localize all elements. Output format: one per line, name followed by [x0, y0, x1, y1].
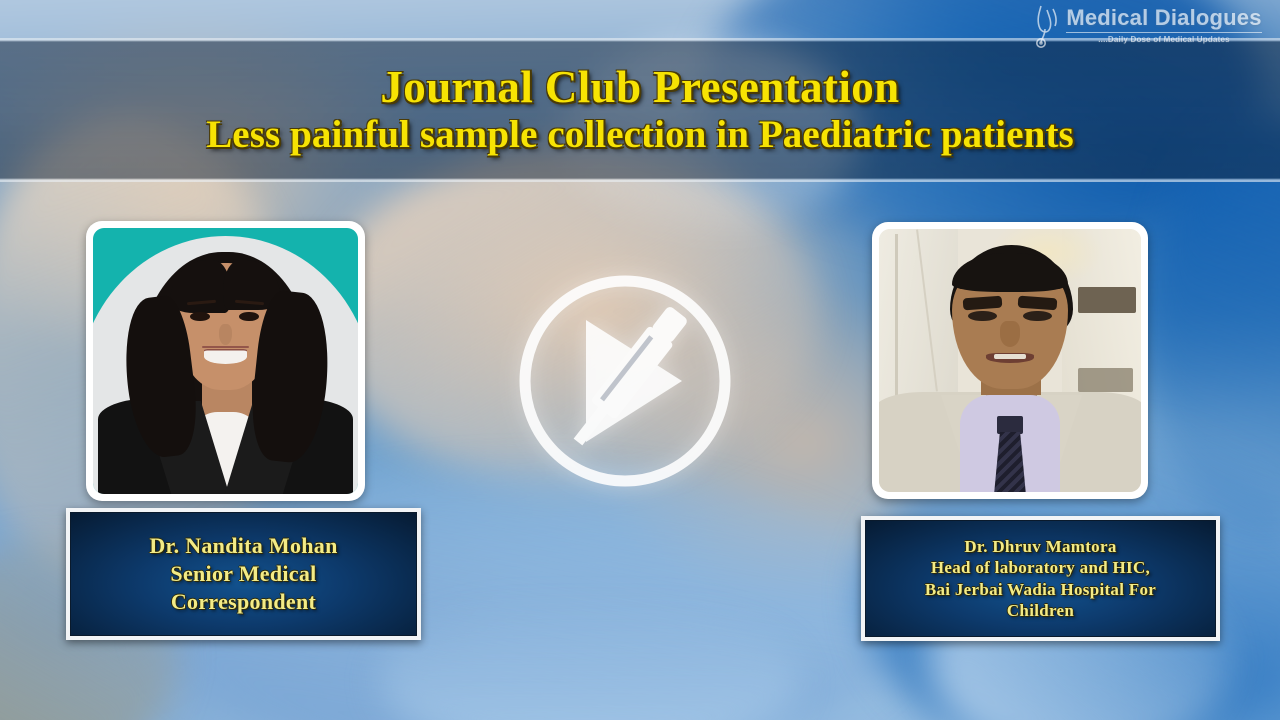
speaker-photo-frame-left — [86, 221, 365, 501]
avatar — [93, 228, 358, 494]
stethoscope-icon — [1032, 2, 1066, 48]
speaker-title-line-2: Bai Jerbai Wadia Hospital For — [925, 579, 1156, 600]
speaker-title-line-3: Children — [1007, 600, 1074, 621]
speaker-title-line-1: Senior Medical — [170, 560, 316, 588]
speaker-nameplate-left: Dr. Nandita Mohan Senior Medical Corresp… — [66, 508, 421, 640]
brand-logo: Medical Dialogues ....Daily Dose of Medi… — [1032, 2, 1272, 50]
page-subtitle: Less painful sample collection in Paedia… — [206, 114, 1074, 155]
speaker-name: Dr. Nandita Mohan — [149, 532, 337, 560]
avatar — [879, 229, 1141, 492]
speaker-title-line-1: Head of laboratory and HIC, — [931, 557, 1150, 578]
title-banner: Journal Club Presentation Less painful s… — [0, 38, 1280, 182]
video-frame: Journal Club Presentation Less painful s… — [0, 0, 1280, 720]
speaker-photo-frame-right — [872, 222, 1148, 499]
brand-name: Medical Dialogues — [1066, 5, 1261, 31]
speaker-name: Dr. Dhruv Mamtora — [964, 536, 1116, 557]
play-syringe-icon[interactable] — [512, 268, 738, 494]
logo-divider — [1066, 32, 1262, 33]
speaker-nameplate-right: Dr. Dhruv Mamtora Head of laboratory and… — [861, 516, 1220, 641]
page-title: Journal Club Presentation — [380, 64, 899, 112]
brand-tagline: ....Daily Dose of Medical Updates — [1098, 35, 1230, 44]
speaker-title-line-2: Correspondent — [171, 588, 316, 616]
